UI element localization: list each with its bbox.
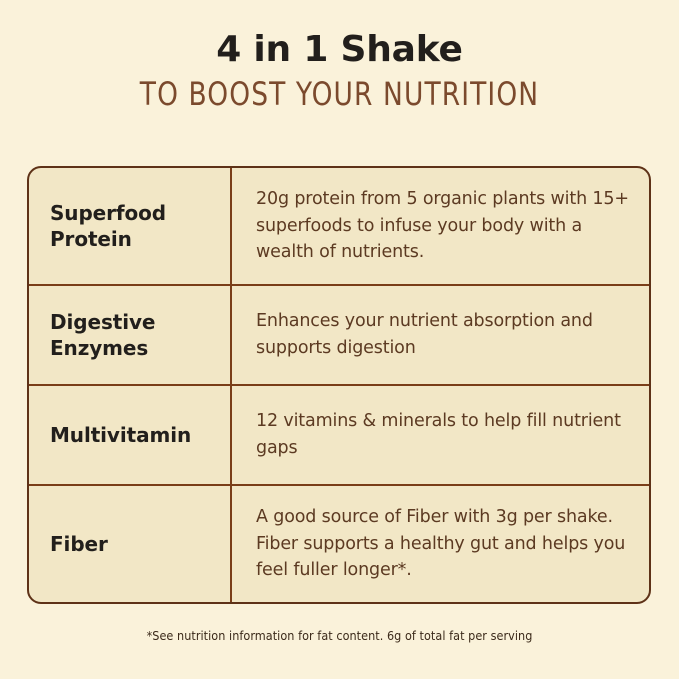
benefit-label: Fiber — [50, 531, 108, 557]
table-cell-description: 12 vitamins & minerals to help fill nutr… — [232, 386, 649, 484]
table-row: Fiber A good source of Fiber with 3g per… — [29, 486, 649, 602]
infographic-page: 4 in 1 Shake TO BOOST YOUR NUTRITION Sup… — [0, 0, 679, 679]
table-cell-label: Multivitamin — [29, 386, 232, 484]
table-cell-description: 20g protein from 5 organic plants with 1… — [232, 168, 649, 284]
page-title: 4 in 1 Shake — [0, 30, 679, 70]
benefit-description: Enhances your nutrient absorption and su… — [256, 308, 633, 362]
footnote: *See nutrition information for fat conte… — [0, 628, 679, 643]
benefit-description: 12 vitamins & minerals to help fill nutr… — [256, 408, 633, 462]
table-cell-label: Digestive Enzymes — [29, 286, 232, 384]
benefit-label: Superfood Protein — [50, 200, 216, 253]
table-cell-description: Enhances your nutrient absorption and su… — [232, 286, 649, 384]
table-row: Digestive Enzymes Enhances your nutrient… — [29, 286, 649, 386]
table-row: Multivitamin 12 vitamins & minerals to h… — [29, 386, 649, 486]
header: 4 in 1 Shake TO BOOST YOUR NUTRITION — [0, 30, 679, 113]
table-row: Superfood Protein 20g protein from 5 org… — [29, 168, 649, 286]
benefit-label: Digestive Enzymes — [50, 309, 216, 362]
page-subtitle: TO BOOST YOUR NUTRITION — [27, 76, 652, 113]
table-cell-label: Superfood Protein — [29, 168, 232, 284]
benefit-description: A good source of Fiber with 3g per shake… — [256, 504, 633, 585]
table-cell-label: Fiber — [29, 486, 232, 602]
benefit-description: 20g protein from 5 organic plants with 1… — [256, 186, 633, 267]
benefits-table: Superfood Protein 20g protein from 5 org… — [27, 166, 651, 604]
table-cell-description: A good source of Fiber with 3g per shake… — [232, 486, 649, 602]
benefit-label: Multivitamin — [50, 422, 191, 448]
